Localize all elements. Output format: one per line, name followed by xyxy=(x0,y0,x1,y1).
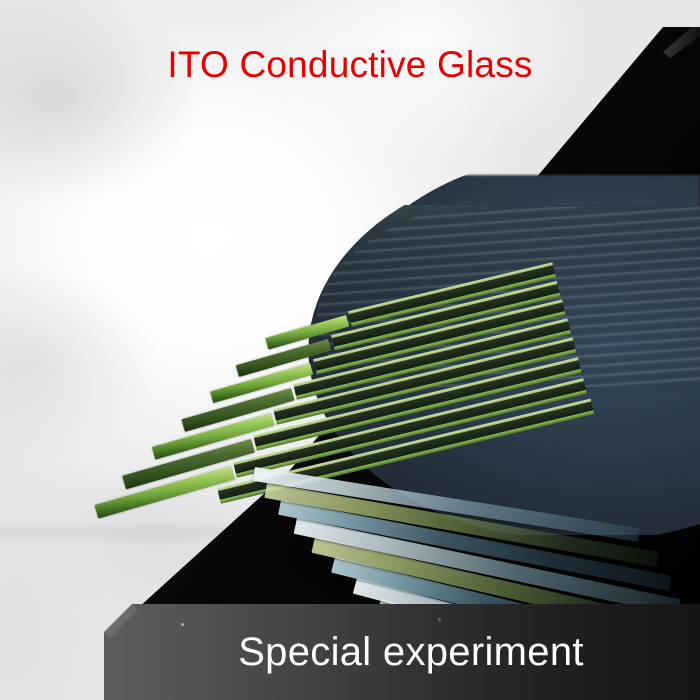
banner-speck xyxy=(181,623,184,626)
banner-speck xyxy=(438,618,441,621)
product-image-canvas: ITO Conductive Glass Special experiment xyxy=(0,0,700,700)
caption-label: Special experiment xyxy=(104,604,700,700)
page-title: ITO Conductive Glass xyxy=(0,45,700,86)
